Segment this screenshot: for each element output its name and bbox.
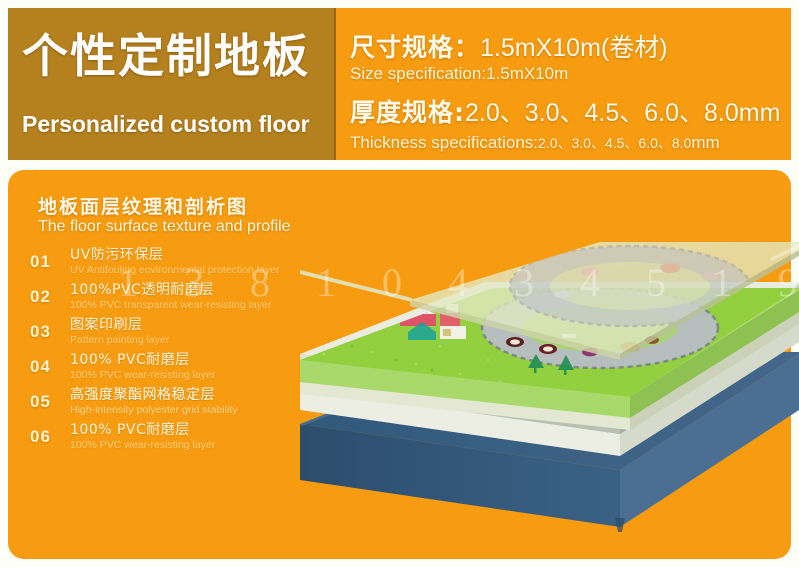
layer-name-en: Pattern painting layer [70, 334, 310, 347]
list-item: 02 100%PVC透明耐磨层 100% PVC transparent wea… [30, 283, 310, 318]
size-value: 1.5mX10m(卷材) [480, 34, 668, 62]
brand-title-cn: 个性定制地板 [22, 33, 327, 79]
layer-name-en: 100% PVC wear-resisting layer [70, 369, 310, 382]
brand-panel: 个性定制地板 Personalized custom floor [8, 8, 336, 160]
layer-number: 02 [30, 287, 58, 307]
size-label-en: Size specification:1.5mX10m [350, 64, 568, 84]
thickness-spec-row-en: Thickness specifications:2.0、3.0、4.5、6.0… [350, 133, 720, 153]
layer-name-cn: 高强度聚酯网格稳定层 [70, 388, 310, 403]
header-bar: 个性定制地板 Personalized custom floor 尺寸规格：1.… [8, 8, 791, 160]
thickness-unit-en: mm [691, 133, 719, 152]
card-title-en: The floor surface texture and profile [38, 218, 291, 236]
layer-list: 01 UV防污环保层 UV Antifouling environmental … [30, 248, 310, 458]
layer-number: 01 [30, 252, 58, 272]
thickness-label-en: Thickness specifications: [350, 133, 538, 152]
layer-name-en: High-intensity polyester grid stability [70, 404, 310, 417]
layer-number: 04 [30, 357, 58, 377]
brand-title-en: Personalized custom floor [22, 113, 332, 136]
layer-name-en: 100% PVC wear-resisting layer [70, 439, 310, 452]
layer-text-group: 高强度聚酯网格稳定层 High-intensity polyester grid… [70, 388, 310, 417]
list-item: 01 UV防污环保层 UV Antifouling environmental … [30, 248, 310, 283]
list-item: 05 高强度聚酯网格稳定层 High-intensity polyester g… [30, 388, 310, 423]
layer-name-cn: 100%PVC透明耐磨层 [70, 283, 310, 298]
list-item: 04 100% PVC耐磨层 100% PVC wear-resisting l… [30, 353, 310, 388]
layer-name-en: UV Antifouling environmental protection … [70, 264, 310, 277]
layer-name-cn: UV防污环保层 [70, 248, 310, 263]
spec-panel: 尺寸规格：1.5mX10m(卷材) Size specification:1.5… [336, 8, 791, 160]
size-label-cn: 尺寸规格： [350, 33, 480, 62]
layer-text-group: 100% PVC耐磨层 100% PVC wear-resisting laye… [70, 353, 310, 382]
poster-root: 个性定制地板 Personalized custom floor 尺寸规格：1.… [0, 0, 799, 567]
layered-floor-diagram [300, 242, 799, 567]
thickness-values-en: 2.0、3.0、4.5、6.0、8.0 [538, 135, 691, 151]
layer-text-group: 100%PVC透明耐磨层 100% PVC transparent wear-r… [70, 283, 310, 312]
list-item: 06 100% PVC耐磨层 100% PVC wear-resisting l… [30, 423, 310, 458]
list-item: 03 图案印刷层 Pattern painting layer [30, 318, 310, 353]
layer-number: 03 [30, 322, 58, 342]
thickness-label-cn: 厚度规格: [350, 98, 465, 127]
thickness-spec-row: 厚度规格:2.0、3.0、4.5、6.0、8.0mm [350, 93, 780, 129]
size-spec-row: 尺寸规格：1.5mX10m(卷材) [350, 28, 668, 64]
thickness-value: 2.0、3.0、4.5、6.0、8.0mm [465, 99, 780, 127]
layer-text-group: UV防污环保层 UV Antifouling environmental pro… [70, 248, 310, 277]
layer-name-cn: 图案印刷层 [70, 318, 310, 333]
card-title-cn: 地板面层纹理和剖析图 [38, 192, 248, 219]
layer-name-en: 100% PVC transparent wear-resisting laye… [70, 299, 310, 312]
layer-text-group: 100% PVC耐磨层 100% PVC wear-resisting laye… [70, 423, 310, 452]
layer-name-cn: 100% PVC耐磨层 [70, 353, 310, 368]
layer-number: 05 [30, 392, 58, 412]
layer-name-cn: 100% PVC耐磨层 [70, 423, 310, 438]
layer-number: 06 [30, 427, 58, 447]
layer-text-group: 图案印刷层 Pattern painting layer [70, 318, 310, 347]
